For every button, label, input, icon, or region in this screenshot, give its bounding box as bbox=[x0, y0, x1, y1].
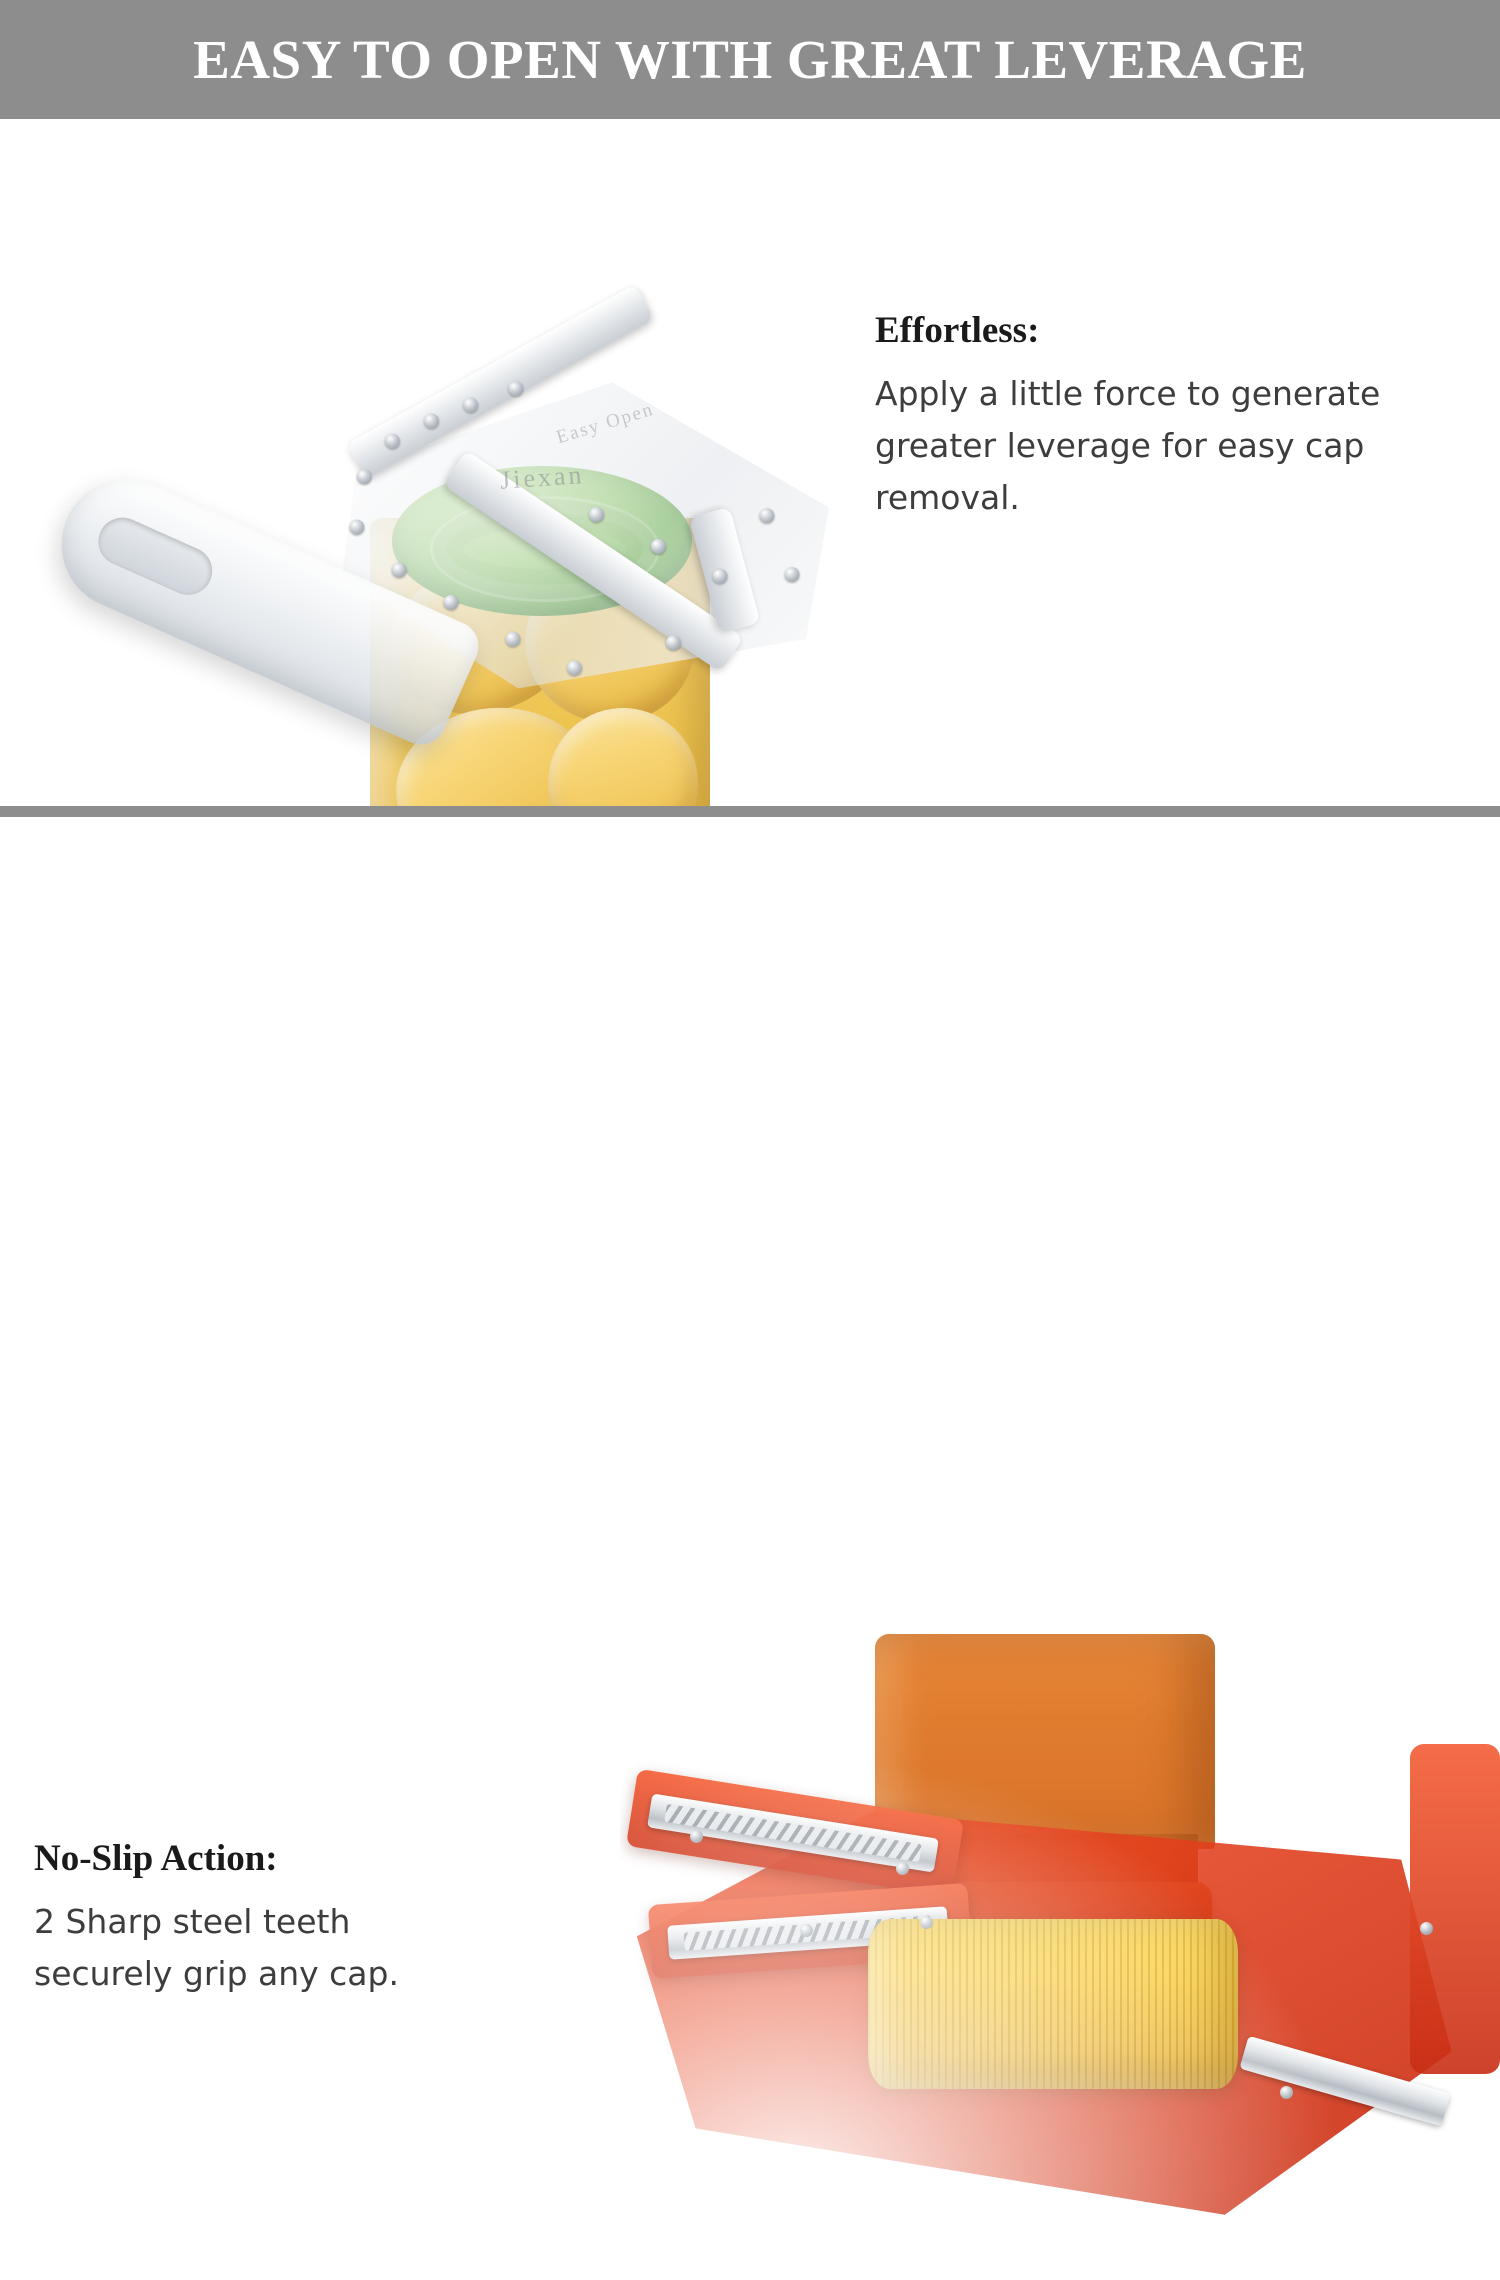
panel-effortless: Jiexan Easy Open Effortless: Apply a lit… bbox=[0, 119, 1500, 806]
rivet-icon bbox=[800, 1924, 813, 1937]
rivet-icon bbox=[896, 1862, 909, 1875]
screw-icon bbox=[508, 381, 524, 397]
caption-effortless: Effortless: Apply a little force to gene… bbox=[875, 309, 1465, 524]
rivet-icon bbox=[1420, 1922, 1433, 1935]
handle-hang-hole bbox=[91, 510, 220, 603]
caption-effortless-heading: Effortless: bbox=[875, 309, 1465, 352]
product-photo-red-opener-gripping-cap bbox=[620, 1634, 1500, 2280]
caption-effortless-body: Apply a little force to generate greater… bbox=[875, 368, 1465, 524]
panel-no-slip: No-Slip Action: 2 Sharp steel teeth secu… bbox=[0, 817, 1500, 1463]
rivet-icon bbox=[690, 1830, 703, 1843]
caption-no-slip-body: 2 Sharp steel teeth securely grip any ca… bbox=[34, 1896, 464, 2000]
rivet-icon bbox=[1280, 2086, 1293, 2099]
embossed-brand-text: Jiexan bbox=[499, 460, 585, 496]
banner-title: EASY TO OPEN WITH GREAT LEVERAGE bbox=[193, 28, 1307, 91]
section-divider bbox=[0, 806, 1500, 817]
yellow-bottle-cap bbox=[868, 1919, 1238, 2089]
caption-no-slip: No-Slip Action: 2 Sharp steel teeth secu… bbox=[34, 1837, 464, 2000]
rivet-icon bbox=[920, 1916, 933, 1929]
red-opener-side-arm bbox=[1410, 1744, 1500, 2074]
header-banner: EASY TO OPEN WITH GREAT LEVERAGE bbox=[0, 0, 1500, 119]
caption-no-slip-heading: No-Slip Action: bbox=[34, 1837, 464, 1880]
